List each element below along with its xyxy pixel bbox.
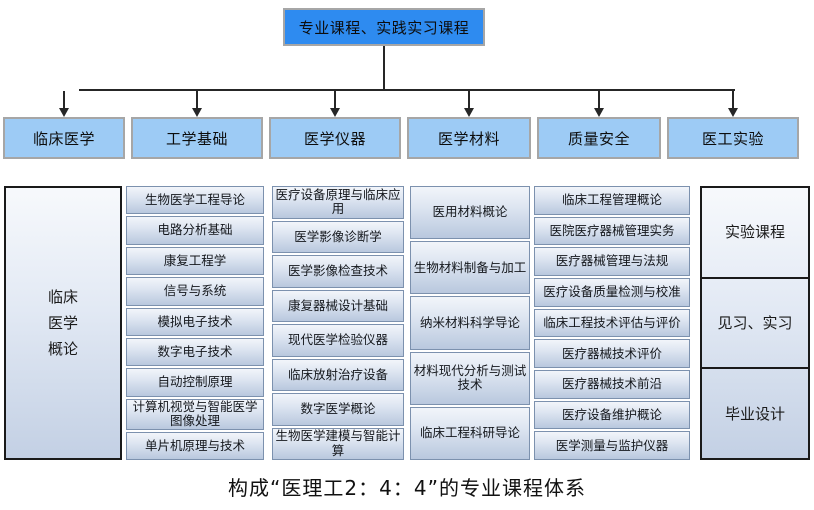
course-label: 医学影像诊断学	[294, 230, 382, 244]
category-label: 医学仪器	[304, 128, 366, 149]
connector-drop-1	[63, 91, 65, 109]
course-label: 医疗设备质量检测与校准	[543, 285, 681, 299]
course-cell[interactable]: 单片机原理与技术	[126, 432, 264, 460]
course-label: 数字医学概论	[300, 402, 375, 416]
course-cell[interactable]: 医疗设备原理与临床应用	[272, 186, 404, 219]
category-box-6[interactable]: 医工实验	[667, 117, 799, 159]
course-label: 医疗设备原理与临床应用	[275, 188, 401, 217]
connector-drop-2	[196, 91, 198, 109]
course-label: 见习、实习	[717, 310, 792, 336]
course-cell[interactable]: 医学影像诊断学	[272, 221, 404, 254]
category-label: 工学基础	[166, 128, 228, 149]
course-cell[interactable]: 医疗器械技术评价	[534, 339, 690, 368]
course-cell[interactable]: 临床医学概论	[6, 188, 120, 458]
connector-drop-4	[468, 91, 470, 109]
course-cell[interactable]: 医学测量与监护仪器	[534, 431, 690, 460]
course-label: 医学测量与监护仪器	[556, 439, 669, 453]
course-label: 模拟电子技术	[157, 315, 232, 329]
course-label: 康复器械设计基础	[288, 299, 388, 313]
course-cell[interactable]: 见习、实习	[702, 277, 808, 368]
course-cell[interactable]: 自动控制原理	[126, 368, 264, 396]
course-cell[interactable]: 信号与系统	[126, 277, 264, 305]
course-cell[interactable]: 生物医学工程导论	[126, 186, 264, 214]
category-box-2[interactable]: 工学基础	[131, 117, 263, 159]
course-label: 材料现代分析与测试技术	[413, 364, 527, 393]
connector-drop-5	[598, 91, 600, 109]
course-cell[interactable]: 医疗设备质量检测与校准	[534, 278, 690, 307]
course-label: 纳米材料科学导论	[420, 316, 520, 330]
course-cell[interactable]: 模拟电子技术	[126, 308, 264, 336]
course-cell[interactable]: 康复器械设计基础	[272, 290, 404, 323]
course-cell[interactable]: 纳米材料科学导论	[410, 296, 530, 349]
course-column-quality-safety-courses: 临床工程管理概论医院医疗器械管理实务医疗器械管理与法规医疗设备质量检测与校准临床…	[534, 186, 690, 460]
course-column-medical-instrument-courses: 医疗设备原理与临床应用医学影像诊断学医学影像检查技术康复器械设计基础现代医学检验…	[272, 186, 404, 460]
course-cell[interactable]: 医学影像检查技术	[272, 255, 404, 288]
course-cell[interactable]: 临床工程技术评估与评价	[534, 309, 690, 338]
course-label: 生物医学工程导论	[145, 193, 245, 207]
course-cell[interactable]: 临床工程管理概论	[534, 186, 690, 215]
course-label: 医疗器械技术评价	[562, 347, 662, 361]
category-box-5[interactable]: 质量安全	[537, 117, 661, 159]
category-label: 医工实验	[702, 128, 764, 149]
arrow-down-icon-1	[59, 108, 69, 117]
course-cell[interactable]: 医院医疗器械管理实务	[534, 217, 690, 246]
course-label: 临床工程科研导论	[420, 426, 520, 440]
course-cell[interactable]: 医用材料概论	[410, 186, 530, 239]
course-cell[interactable]: 生物材料制备与加工	[410, 241, 530, 294]
arrow-down-icon-5	[594, 108, 604, 117]
connector-drop-6	[732, 91, 734, 109]
arrow-down-icon-3	[330, 108, 340, 117]
course-column-engineering-foundation-courses: 生物医学工程导论电路分析基础康复工程学信号与系统模拟电子技术数字电子技术自动控制…	[126, 186, 264, 460]
course-column-medical-material-courses: 医用材料概论生物材料制备与加工纳米材料科学导论材料现代分析与测试技术临床工程科研…	[410, 186, 530, 460]
course-cell[interactable]: 现代医学检验仪器	[272, 324, 404, 357]
course-column-clinical-medicine-overview: 临床医学概论	[4, 186, 122, 460]
arrow-down-icon-6	[728, 108, 738, 117]
course-label: 数字电子技术	[157, 345, 232, 359]
connector-vertical-trunk	[383, 46, 385, 91]
course-label: 现代医学检验仪器	[288, 333, 388, 347]
course-label: 康复工程学	[164, 254, 227, 268]
course-cell[interactable]: 实验课程	[702, 188, 808, 277]
course-cell[interactable]: 医疗设备维护概论	[534, 401, 690, 430]
course-label: 信号与系统	[164, 284, 227, 298]
category-box-3[interactable]: 医学仪器	[269, 117, 401, 159]
course-label: 医学影像检查技术	[288, 264, 388, 278]
course-label: 临床工程管理概论	[562, 193, 662, 207]
course-label: 实验课程	[725, 219, 785, 245]
course-cell[interactable]: 计算机视觉与智能医学图像处理	[126, 399, 264, 430]
course-cell[interactable]: 数字医学概论	[272, 393, 404, 426]
course-cell[interactable]: 临床工程科研导论	[410, 407, 530, 460]
course-label: 医院医疗器械管理实务	[549, 224, 674, 238]
category-label: 临床医学	[33, 128, 95, 149]
course-cell[interactable]: 医疗器械管理与法规	[534, 247, 690, 276]
course-label: 医疗器械管理与法规	[556, 254, 669, 268]
course-label: 临床工程技术评估与评价	[543, 316, 681, 330]
course-label: 电路分析基础	[157, 223, 232, 237]
connector-drop-3	[334, 91, 336, 109]
diagram-caption: 构成“医理工2：4：4”的专业课程体系	[0, 472, 814, 501]
course-label: 单片机原理与技术	[145, 439, 245, 453]
course-label: 医疗器械技术前沿	[562, 377, 662, 391]
root-node-professional-courses[interactable]: 专业课程、实践实习课程	[283, 8, 485, 46]
course-label: 生物材料制备与加工	[414, 261, 527, 275]
category-label: 质量安全	[568, 128, 630, 149]
course-label: 毕业设计	[725, 401, 785, 427]
course-cell[interactable]: 材料现代分析与测试技术	[410, 352, 530, 405]
category-box-4[interactable]: 医学材料	[407, 117, 531, 159]
course-label: 自动控制原理	[157, 375, 232, 389]
course-label: 计算机视觉与智能医学图像处理	[129, 400, 261, 429]
course-cell[interactable]: 医疗器械技术前沿	[534, 370, 690, 399]
arrow-down-icon-4	[464, 108, 474, 117]
course-label: 医疗设备维护概论	[562, 408, 662, 422]
connector-horizontal-bus	[79, 89, 735, 91]
course-cell[interactable]: 数字电子技术	[126, 338, 264, 366]
course-column-practice-courses: 实验课程见习、实习毕业设计	[700, 186, 810, 460]
course-cell[interactable]: 康复工程学	[126, 247, 264, 275]
course-cell[interactable]: 生物医学建模与智能计算	[272, 428, 404, 461]
course-system-diagram: 专业课程、实践实习课程 临床医学工学基础医学仪器医学材料质量安全医工实验 临床医…	[0, 0, 814, 510]
course-label: 医用材料概论	[432, 205, 507, 219]
course-label: 临床医学概论	[48, 284, 78, 363]
course-cell[interactable]: 毕业设计	[702, 367, 808, 458]
arrow-down-icon-2	[192, 108, 202, 117]
category-box-1[interactable]: 临床医学	[3, 117, 125, 159]
category-label: 医学材料	[438, 128, 500, 149]
course-label: 临床放射治疗设备	[288, 368, 388, 382]
course-label: 生物医学建模与智能计算	[275, 429, 401, 458]
course-cell[interactable]: 临床放射治疗设备	[272, 359, 404, 392]
course-cell[interactable]: 电路分析基础	[126, 216, 264, 244]
